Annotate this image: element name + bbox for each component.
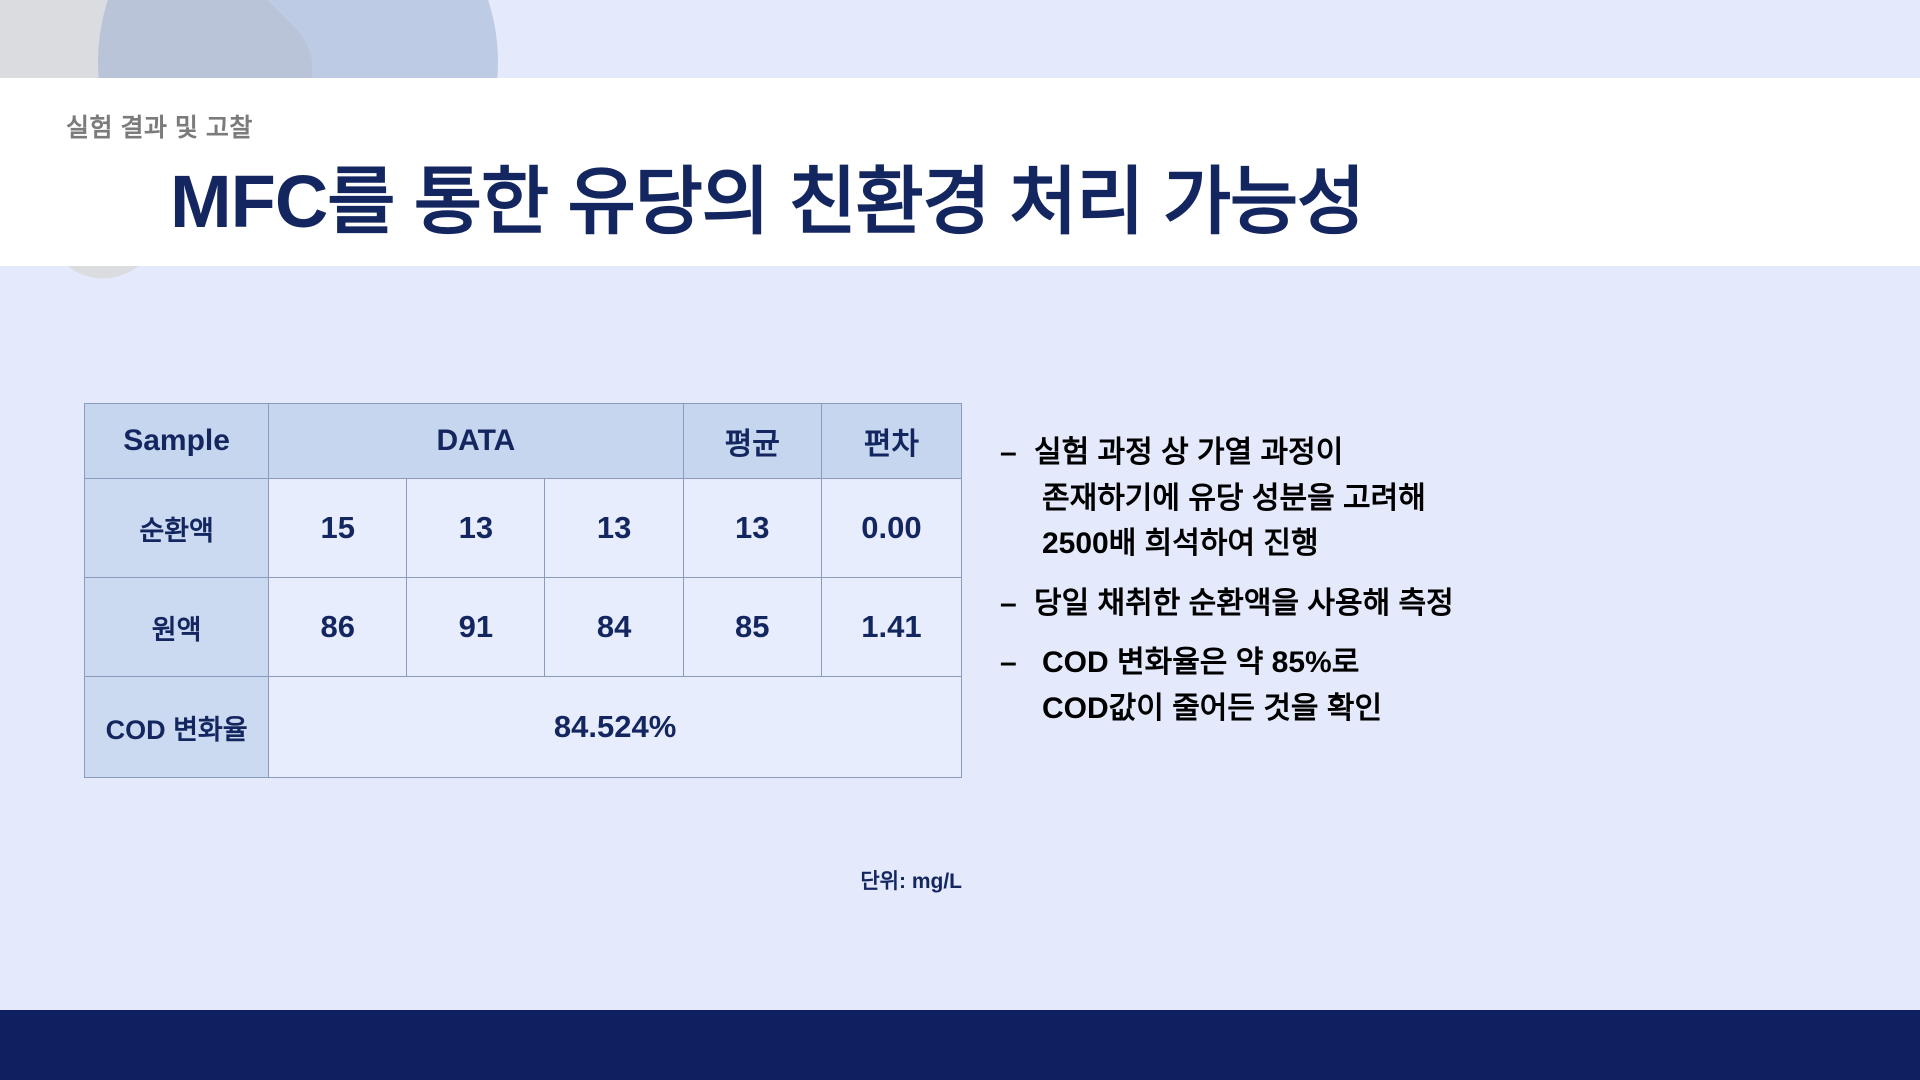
cell-wonaek-average: 85 <box>683 578 821 677</box>
bullet-text-3: COD 변화율은 약 85%로 COD값이 줄어든 것을 확인 <box>1034 640 1382 731</box>
table-row: 순환액 15 13 13 13 0.00 <box>85 479 962 578</box>
cell-wonaek-data-2: 91 <box>407 578 545 677</box>
row-label-wonaek: 원액 <box>85 578 269 677</box>
bullet-dash-icon: – <box>1000 581 1034 627</box>
table-row: 원액 86 91 84 85 1.41 <box>85 578 962 677</box>
footer-bar <box>0 1010 1920 1080</box>
findings-bullet-list: – 실험 과정 상 가열 과정이 존재하기에 유당 성분을 고려해 2500배 … <box>1000 430 1860 746</box>
cell-wonaek-data-3: 84 <box>545 578 683 677</box>
cell-cod-change-rate-value: 84.524% <box>269 677 962 778</box>
cell-sunhwanaek-data-2: 13 <box>407 479 545 578</box>
header-deviation: 편차 <box>821 404 961 479</box>
row-label-cod-change-rate: COD 변화율 <box>85 677 269 778</box>
bullet-3-line-2: COD값이 줄어든 것을 확인 <box>1034 686 1382 732</box>
bullet-dash-icon: – <box>1000 430 1034 567</box>
header-average: 평균 <box>683 404 821 479</box>
bullet-1-line-1: 실험 과정 상 가열 과정이 <box>1034 430 1426 476</box>
list-item: – 실험 과정 상 가열 과정이 존재하기에 유당 성분을 고려해 2500배 … <box>1000 430 1860 567</box>
bullet-1-line-3: 2500배 희석하여 진행 <box>1034 521 1426 567</box>
bullet-2-line-1: 당일 채취한 순환액을 사용해 측정 <box>1034 581 1454 627</box>
results-table-container: Sample DATA 평균 편차 순환액 15 13 13 13 0.00 원… <box>84 403 962 778</box>
results-table: Sample DATA 평균 편차 순환액 15 13 13 13 0.00 원… <box>84 403 962 778</box>
list-item: – 당일 채취한 순환액을 사용해 측정 <box>1000 581 1860 627</box>
cell-wonaek-deviation: 1.41 <box>821 578 961 677</box>
page-title: MFC를 통한 유당의 친환경 처리 가능성 <box>170 142 1364 249</box>
section-eyebrow-label: 실험 결과 및 고찰 <box>66 108 253 144</box>
cell-sunhwanaek-data-1: 15 <box>269 479 407 578</box>
table-header-row: Sample DATA 평균 편차 <box>85 404 962 479</box>
cell-sunhwanaek-deviation: 0.00 <box>821 479 961 578</box>
bullet-3-line-1: COD 변화율은 약 85%로 <box>1034 640 1382 686</box>
row-label-sunhwanaek: 순환액 <box>85 479 269 578</box>
table-summary-row: COD 변화율 84.524% <box>85 677 962 778</box>
cell-wonaek-data-1: 86 <box>269 578 407 677</box>
unit-note: 단위: mg/L <box>84 865 962 895</box>
bullet-dash-icon: – <box>1000 640 1034 731</box>
bullet-text-1: 실험 과정 상 가열 과정이 존재하기에 유당 성분을 고려해 2500배 희석… <box>1034 430 1426 567</box>
list-item: – COD 변화율은 약 85%로 COD값이 줄어든 것을 확인 <box>1000 640 1860 731</box>
header-data: DATA <box>269 404 683 479</box>
slide-root: 실험 결과 및 고찰 MFC를 통한 유당의 친환경 처리 가능성 Sample… <box>0 0 1920 1080</box>
bullet-text-2: 당일 채취한 순환액을 사용해 측정 <box>1034 581 1454 627</box>
cell-sunhwanaek-average: 13 <box>683 479 821 578</box>
bullet-1-line-2: 존재하기에 유당 성분을 고려해 <box>1034 476 1426 522</box>
header-sample: Sample <box>85 404 269 479</box>
cell-sunhwanaek-data-3: 13 <box>545 479 683 578</box>
